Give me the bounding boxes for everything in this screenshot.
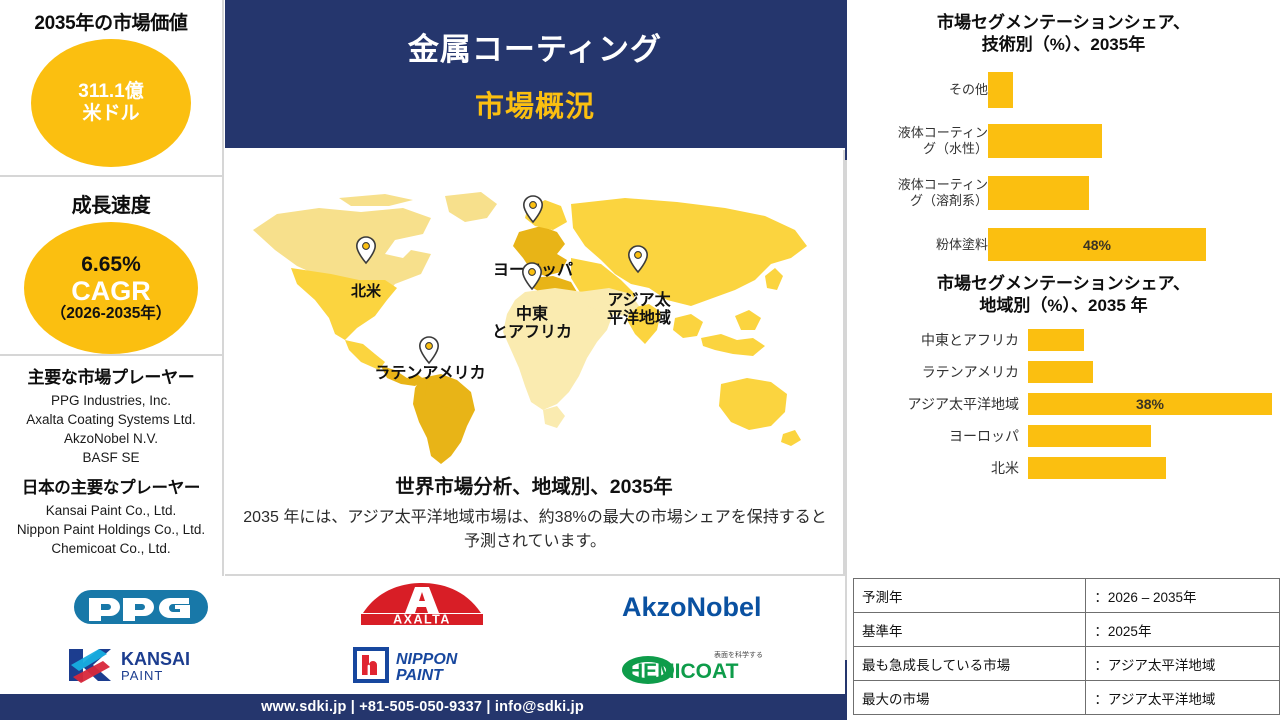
logo-axalta: AXALTA: [357, 583, 487, 631]
growth-years: （2026-2035年）: [51, 305, 172, 323]
bar-others: [988, 72, 1013, 108]
svg-text:PAINT: PAINT: [396, 667, 444, 684]
svg-text:AXALTA: AXALTA: [394, 613, 452, 627]
table-cell-key: 最も急成長している市場: [854, 647, 1086, 681]
bar-track: [988, 176, 1280, 210]
page-title: 金属コーティング: [408, 24, 662, 69]
bar-track: [988, 124, 1280, 158]
table-cell-value: ：アジア太平洋地域: [1086, 681, 1280, 715]
list-item: Chemicoat Co., Ltd.: [0, 539, 222, 558]
nippon-paint-logo-icon: NIPPON PAINT: [352, 645, 492, 685]
map-label-latin-america: ラテンアメリカ: [345, 365, 515, 383]
key-players-list: PPG Industries, Inc. Axalta Coating Syst…: [0, 391, 222, 468]
bar-track: [1019, 425, 1280, 447]
logo-akzonobel: AkzoNobel: [620, 589, 788, 625]
table-cell-value: ：2026 – 2035年: [1086, 579, 1280, 613]
logo-kansai-paint: KANSAI PAINT: [65, 645, 217, 685]
map-label-north-america: 北米: [325, 283, 407, 300]
growth-ellipse: 6.65% CAGR （2026-2035年）: [24, 222, 198, 354]
market-value-line2: 米ドル: [82, 103, 139, 125]
bar-value: 38%: [1136, 396, 1164, 412]
bar-row: その他: [847, 72, 1280, 108]
table-row: 最も急成長している市場 ：アジア太平洋地域: [854, 647, 1280, 681]
map-caption-title: 世界市場分析、地域別、2035年: [225, 470, 843, 499]
list-item: Axalta Coating Systems Ltd.: [0, 410, 222, 429]
logo-chemicoat: HEMICOAT 表面を科学する: [618, 644, 790, 686]
bar-europe: [1028, 425, 1151, 447]
map-pin-north-america-icon: [355, 236, 377, 266]
map-pin-asia-pacific-icon: [627, 245, 649, 275]
svg-text:AkzoNobel: AkzoNobel: [622, 592, 762, 622]
table-row: 予測年 ：2026 – 2035年: [854, 579, 1280, 613]
bar-label: 粉体塗料: [847, 237, 988, 253]
map-label-asia-pacific: アジア太平洋地域: [593, 292, 685, 329]
growth-ellipse-wrap: 6.65% CAGR （2026-2035年）: [0, 218, 222, 354]
map-pin-europe-icon: [522, 195, 544, 225]
chart-technology-title: 市場セグメンテーションシェア、 技術別（%）、2035年: [847, 12, 1280, 56]
list-item: BASF SE: [0, 448, 222, 467]
infographic-root: 2035年の市場価値 311.1億 米ドル 成長速度 6.65% CAGR （2…: [0, 0, 1280, 720]
table-cell-key: 最大の市場: [854, 681, 1086, 715]
list-item: Nippon Paint Holdings Co., Ltd.: [0, 520, 222, 539]
akzonobel-logo-icon: AkzoNobel: [620, 589, 788, 625]
bar-liquid-waterborne: [988, 124, 1102, 158]
market-value-ellipse-wrap: 311.1億 米ドル: [0, 35, 222, 167]
bar-value: 48%: [1083, 237, 1111, 253]
bar-label: 液体コーティン グ（水性）: [847, 125, 988, 158]
bar-track: 38%: [1019, 393, 1280, 415]
world-map-panel: 北米 ヨーロッパ アジア太平洋地域 中東とアフリカ ラテンアメリカ 世: [225, 150, 845, 576]
map-pin-middle-east-africa-icon: [521, 262, 543, 292]
axalta-logo-icon: AXALTA: [357, 583, 487, 631]
bar-powder-coating: 48%: [988, 228, 1206, 261]
table-cell-key: 予測年: [854, 579, 1086, 613]
map-label-middle-east-africa: 中東とアフリカ: [477, 306, 587, 343]
list-item: AkzoNobel N.V.: [0, 429, 222, 448]
bar-row: 液体コーティン グ（溶剤系）: [847, 176, 1280, 210]
growth-rate-card: 成長速度 6.65% CAGR （2026-2035年）: [0, 177, 222, 354]
growth-heading: 成長速度: [0, 177, 222, 218]
svg-text:NIPPON: NIPPON: [396, 651, 458, 668]
footer-contact-text: www.sdki.jp | +81-505-050-9337 | info@sd…: [261, 699, 584, 715]
bar-track: [1019, 457, 1280, 479]
svg-text:KANSAI: KANSAI: [121, 649, 190, 669]
left-sidebar: 2035年の市場価値 311.1億 米ドル 成長速度 6.65% CAGR （2…: [0, 0, 224, 576]
bar-track: [1019, 329, 1280, 351]
map-pin-latin-america-icon: [418, 336, 440, 366]
page-subtitle: 市場概況: [475, 83, 595, 125]
svg-text:PAINT: PAINT: [121, 668, 163, 683]
bar-row: 中東とアフリカ: [847, 329, 1280, 351]
map-caption-body: 2035 年には、アジア太平洋地域市場は、約38%の最大の市場シェアを保持すると…: [243, 506, 827, 554]
jp-players-list: Kansai Paint Co., Ltd. Nippon Paint Hold…: [0, 501, 222, 558]
bar-liquid-solventborne: [988, 176, 1089, 210]
growth-percent: 6.65%: [81, 253, 141, 277]
bar-row: 北米: [847, 457, 1280, 479]
svg-text:表面を科学する: 表面を科学する: [714, 650, 763, 659]
bar-asia-pacific: 38%: [1028, 393, 1272, 415]
bar-latin-america: [1028, 361, 1093, 383]
bar-label: アジア太平洋地域: [847, 396, 1019, 414]
bar-track: [1019, 361, 1280, 383]
bar-track: 48%: [988, 228, 1280, 261]
bar-row: 粉体塗料 48%: [847, 228, 1280, 261]
market-value-line1: 311.1億: [78, 81, 144, 103]
key-players-heading: 主要な市場プレーヤー: [0, 356, 222, 388]
market-value-ellipse: 311.1億 米ドル: [31, 39, 191, 167]
kansai-paint-logo-icon: KANSAI PAINT: [65, 645, 217, 685]
chart-region-title: 市場セグメンテーションシェア、 地域別（%）、2035 年: [847, 273, 1280, 317]
table-cell-value: ：アジア太平洋地域: [1086, 647, 1280, 681]
partner-logo-strip: AXALTA AkzoNobel KANSAI PAINT NIPPON: [0, 578, 845, 694]
list-item: Kansai Paint Co., Ltd.: [0, 501, 222, 520]
players-card: 主要な市場プレーヤー PPG Industries, Inc. Axalta C…: [0, 356, 222, 576]
bar-label: その他: [847, 82, 988, 98]
ppg-logo-icon: [73, 586, 209, 628]
summary-info-table: 予測年 ：2026 – 2035年 基準年 ：2025年 最も急成長している市場…: [853, 578, 1280, 715]
bar-row: ラテンアメリカ: [847, 361, 1280, 383]
logo-ppg: [73, 586, 209, 628]
table-cell-key: 基準年: [854, 613, 1086, 647]
table-cell-value: ：2025年: [1086, 613, 1280, 647]
bar-row: ヨーロッパ: [847, 425, 1280, 447]
jp-players-heading: 日本の主要なプレーヤー: [0, 468, 222, 498]
market-value-heading: 2035年の市場価値: [0, 0, 222, 35]
bar-north-america: [1028, 457, 1166, 479]
table-row: 基準年 ：2025年: [854, 613, 1280, 647]
bar-row: 液体コーティン グ（水性）: [847, 124, 1280, 158]
chemicoat-logo-icon: HEMICOAT 表面を科学する: [618, 644, 790, 686]
bar-label: ラテンアメリカ: [847, 364, 1019, 382]
bar-track: [988, 72, 1280, 108]
svg-text:HEMICOAT: HEMICOAT: [628, 660, 739, 683]
market-value-card: 2035年の市場価値 311.1億 米ドル: [0, 0, 222, 175]
title-banner: 金属コーティング 市場概況: [225, 0, 845, 148]
chart-technology-bars: その他 液体コーティン グ（水性）: [847, 72, 1280, 261]
bar-middle-east-africa: [1028, 329, 1084, 351]
table-row: 最大の市場 ：アジア太平洋地域: [854, 681, 1280, 715]
bar-label: 中東とアフリカ: [847, 332, 1019, 350]
logo-nippon-paint: NIPPON PAINT: [352, 645, 492, 685]
right-panel: 市場セグメンテーションシェア、 技術別（%）、2035年 その他 液体コーティン…: [847, 0, 1280, 720]
bar-row: アジア太平洋地域 38%: [847, 393, 1280, 415]
footer-contact-bar: www.sdki.jp | +81-505-050-9337 | info@sd…: [0, 694, 845, 720]
chart-region-bars: 中東とアフリカ ラテンアメリカ アジア太平洋地域: [847, 329, 1280, 479]
bar-label: 液体コーティン グ（溶剤系）: [847, 177, 988, 210]
growth-cagr-label: CAGR: [71, 277, 151, 305]
bar-label: ヨーロッパ: [847, 428, 1019, 446]
list-item: PPG Industries, Inc.: [0, 391, 222, 410]
bar-label: 北米: [847, 460, 1019, 478]
